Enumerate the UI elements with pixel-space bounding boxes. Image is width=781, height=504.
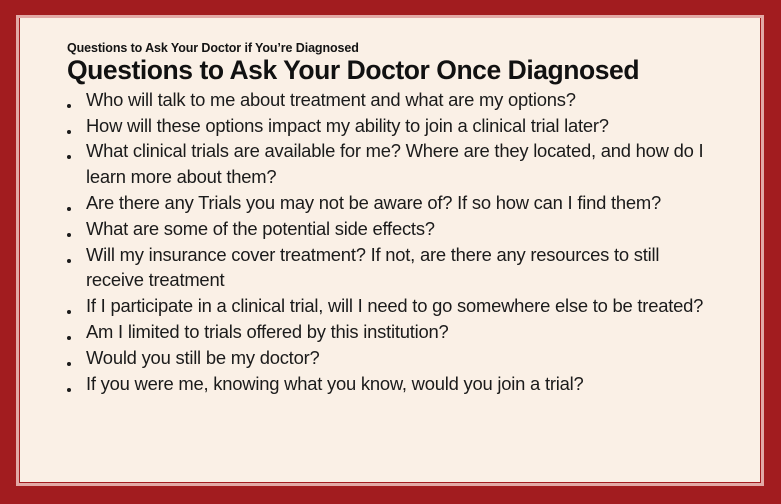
bullet-icon (67, 104, 71, 108)
list-item-text: How will these options impact my ability… (86, 113, 711, 139)
list-item-text: Would you still be my doctor? (86, 345, 711, 371)
list-item-text: Am I limited to trials offered by this i… (86, 319, 711, 345)
bullet-icon (67, 362, 71, 366)
eyebrow-heading: Questions to Ask Your Doctor if You’re D… (67, 42, 738, 55)
bullet-icon (67, 155, 71, 159)
list-item: If I participate in a clinical trial, wi… (56, 293, 738, 319)
bullet-icon (67, 233, 71, 237)
bullet-icon (67, 259, 71, 263)
list-item: What are some of the potential side effe… (56, 216, 738, 242)
list-item: Would you still be my doctor? (56, 345, 738, 371)
list-item: How will these options impact my ability… (56, 113, 738, 139)
slide-frame: Questions to Ask Your Doctor if You’re D… (0, 0, 781, 504)
bullet-icon (67, 130, 71, 134)
list-item-text: Who will talk to me about treatment and … (86, 87, 711, 113)
bullet-icon (67, 336, 71, 340)
slide-content: Questions to Ask Your Doctor if You’re D… (20, 18, 760, 396)
question-list: Who will talk to me about treatment and … (56, 87, 738, 397)
bullet-icon (67, 310, 71, 314)
list-item: If you were me, knowing what you know, w… (56, 371, 738, 397)
list-item: Am I limited to trials offered by this i… (56, 319, 738, 345)
list-item-text: Will my insurance cover treatment? If no… (86, 242, 711, 294)
list-item-text: What are some of the potential side effe… (86, 216, 711, 242)
bullet-icon (67, 207, 71, 211)
list-item: Will my insurance cover treatment? If no… (56, 242, 738, 294)
list-item: Are there any Trials you may not be awar… (56, 190, 738, 216)
list-item-text: If you were me, knowing what you know, w… (86, 371, 711, 397)
list-item-text: If I participate in a clinical trial, wi… (86, 293, 711, 319)
list-item: Who will talk to me about treatment and … (56, 87, 738, 113)
list-item: What clinical trials are available for m… (56, 138, 738, 190)
bullet-icon (67, 388, 71, 392)
slide-page: Questions to Ask Your Doctor if You’re D… (20, 18, 760, 482)
page-title: Questions to Ask Your Doctor Once Diagno… (67, 56, 738, 85)
list-item-text: What clinical trials are available for m… (86, 138, 711, 190)
list-item-text: Are there any Trials you may not be awar… (86, 190, 711, 216)
